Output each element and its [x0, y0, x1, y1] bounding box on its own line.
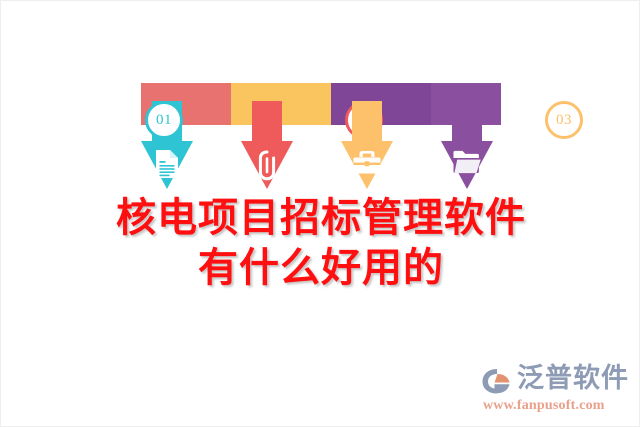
brand-logo[interactable]: 泛普软件 www.fanpusoft.com	[479, 362, 631, 420]
arrow-head-2	[241, 141, 293, 189]
arrow-head-1	[141, 141, 193, 189]
step-number-label-1: 01	[156, 112, 172, 129]
page-title-line-1: 核电项目招标管理软件	[1, 193, 640, 243]
page-title: 核电项目招标管理软件 有什么好用的	[1, 193, 640, 293]
step-number-label-3: 03	[556, 112, 572, 129]
four-step-infographic: 01 02	[141, 77, 501, 189]
arrow-stem-4	[452, 101, 482, 143]
arrow-head-4	[441, 141, 493, 189]
page-title-line-2: 有什么好用的	[1, 243, 640, 293]
step-number-circle-3[interactable]: 03	[545, 101, 583, 139]
brand-url: www.fanpusoft.com	[483, 398, 605, 414]
brand-name: 泛普软件	[517, 362, 629, 396]
arrow-head-3	[341, 141, 393, 189]
poster-canvas: 01 02	[0, 0, 640, 427]
arrow-stem-3	[352, 101, 382, 143]
arrow-stem-2	[252, 101, 282, 143]
fanpu-logo-mark-icon	[481, 366, 515, 396]
step-number-circle-1[interactable]: 01	[145, 101, 183, 139]
